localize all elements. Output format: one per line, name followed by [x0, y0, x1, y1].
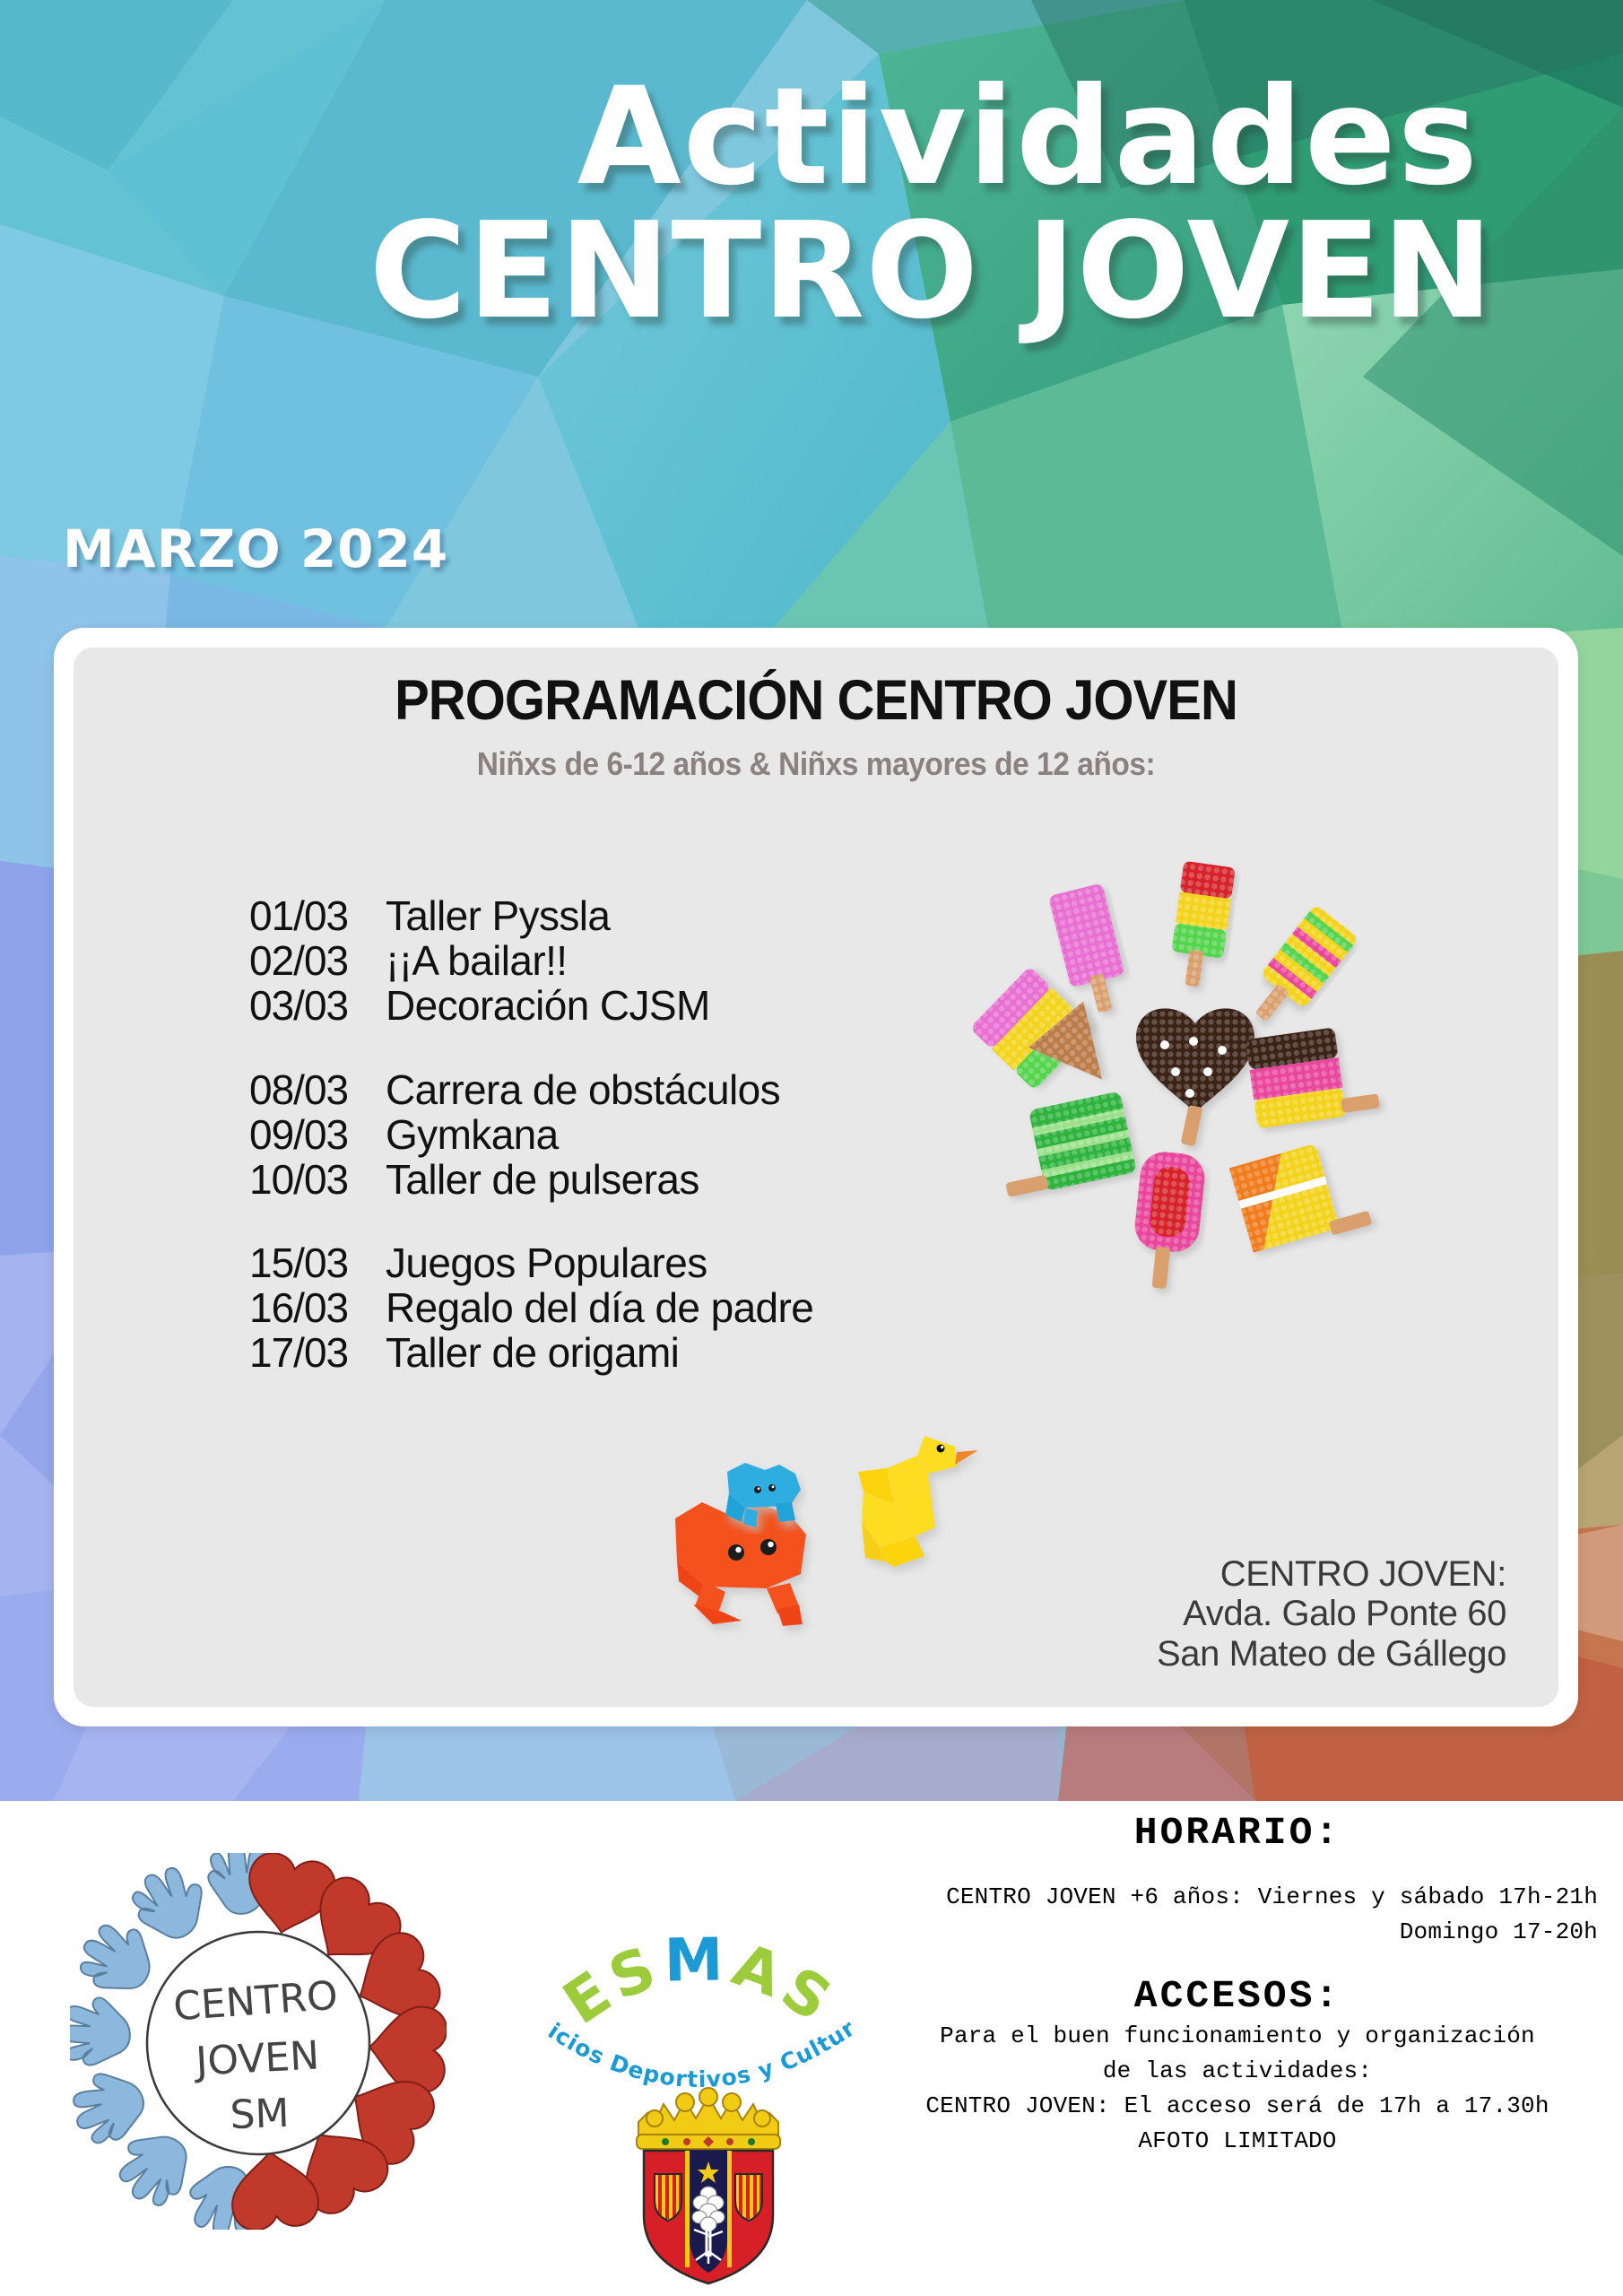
origami-image [659, 1422, 1009, 1691]
hours-heading: HORARIO: [861, 1810, 1614, 1857]
footer-info-block: HORARIO: CENTRO JOVEN +6 años: Viernes y… [861, 1810, 1614, 2159]
pyssla-beads-illustration [973, 857, 1421, 1305]
page-title-activities: Actividades [0, 70, 1480, 204]
hours-line-2: Domingo 17-20h [861, 1915, 1614, 1950]
activity-name: Taller de pulseras [386, 1158, 699, 1203]
poster-headline: Actividades CENTRO JOVEN MARZO 2024 [0, 0, 1623, 601]
activity-row: 08/03 Carrera de obstáculos [249, 1068, 813, 1113]
san-mateo-de-gallego-coat-of-arms [619, 2081, 798, 2292]
activities-group: 08/03 Carrera de obstáculos 09/03 Gymkan… [249, 1068, 813, 1203]
access-line-3: CENTRO JOVEN: El acceso será de 17h a 17… [861, 2089, 1614, 2124]
program-title: PROGRAMACIÓN CENTRO JOVEN [133, 673, 1499, 729]
activity-date: 17/03 [249, 1331, 386, 1376]
page-title-centro-joven: CENTRO JOVEN [0, 204, 1494, 337]
hours-line-1: CENTRO JOVEN +6 años: Viernes y sábado 1… [861, 1880, 1614, 1915]
activity-row: 15/03 Juegos Populares [249, 1241, 813, 1286]
pyssla-beads-image [973, 857, 1421, 1305]
activity-row: 10/03 Taller de pulseras [249, 1158, 813, 1203]
activity-date: 16/03 [249, 1286, 386, 1331]
centro-joven-sm-logo-graphic: CENTRO JOVEN SM [70, 1853, 447, 2230]
coat-of-arms-graphic [619, 2081, 798, 2292]
logo-text-joven: JOVEN [192, 2032, 320, 2084]
activities-group: 01/03 Taller Pyssla 02/03 ¡¡A bailar!! 0… [249, 894, 813, 1029]
crown-icon [637, 2088, 780, 2149]
address-line-city: San Mateo de Gállego [1157, 1634, 1506, 1674]
activity-name: Carrera de obstáculos [386, 1068, 780, 1113]
activity-row: 01/03 Taller Pyssla [249, 894, 813, 939]
activity-name: Taller Pyssla [386, 894, 610, 939]
activities-list: 01/03 Taller Pyssla 02/03 ¡¡A bailar!! 0… [249, 894, 813, 1415]
centro-joven-sm-logo: CENTRO JOVEN SM [70, 1853, 447, 2230]
activity-date: 01/03 [249, 894, 386, 939]
activity-name: Juegos Populares [386, 1241, 707, 1286]
access-line-1: Para el buen funcionamiento y organizaci… [861, 2019, 1614, 2054]
activity-date: 08/03 [249, 1068, 386, 1113]
activity-date: 15/03 [249, 1241, 386, 1286]
activity-name: Regalo del día de padre [386, 1286, 813, 1331]
activities-group: 15/03 Juegos Populares 16/03 Regalo del … [249, 1241, 813, 1376]
access-line-2: de las actividades: [861, 2054, 1614, 2089]
poster: Actividades CENTRO JOVEN MARZO 2024 PROG… [0, 0, 1623, 2296]
activity-row: 17/03 Taller de origami [249, 1331, 813, 1376]
logo-text-sm: SM [230, 2091, 291, 2138]
address-line-street: Avda. Galo Ponte 60 [1157, 1594, 1506, 1634]
activity-row: 09/03 Gymkana [249, 1113, 813, 1158]
page-title-month: MARZO 2024 [63, 523, 448, 575]
activity-row: 03/03 Decoración CJSM [249, 984, 813, 1029]
poster-footer: CENTRO JOVEN SM ESMAS Servicios Deportiv… [0, 1801, 1623, 2296]
activity-date: 10/03 [249, 1158, 386, 1203]
activity-name: Decoración CJSM [386, 984, 710, 1029]
esmas-wordmark: ESMAS [551, 1926, 847, 2038]
program-subtitle: Niñxs de 6-12 años & Niñxs mayores de 12… [126, 748, 1506, 780]
activity-row: 02/03 ¡¡A bailar!! [249, 939, 813, 984]
activity-date: 03/03 [249, 984, 386, 1029]
access-line-4: AFOTO LIMITADO [861, 2124, 1614, 2159]
activity-date: 02/03 [249, 939, 386, 984]
activity-name: Gymkana [386, 1113, 559, 1158]
origami-duck-icon [858, 1436, 978, 1567]
access-heading: ACCESOS: [861, 1973, 1614, 2020]
esmas-logo-graphic: ESMAS Servicios Deportivos y Culturales [538, 1926, 861, 2097]
address-line-name: CENTRO JOVEN: [1157, 1554, 1506, 1595]
activity-date: 09/03 [249, 1113, 386, 1158]
activity-name: ¡¡A bailar!! [386, 939, 567, 984]
origami-illustration [659, 1422, 1009, 1691]
esmas-logo: ESMAS Servicios Deportivos y Culturales [538, 1926, 861, 2097]
activity-row: 16/03 Regalo del día de padre [249, 1286, 813, 1331]
venue-address: CENTRO JOVEN: Avda. Galo Ponte 60 San Ma… [1157, 1554, 1506, 1674]
activity-name: Taller de origami [386, 1331, 679, 1376]
